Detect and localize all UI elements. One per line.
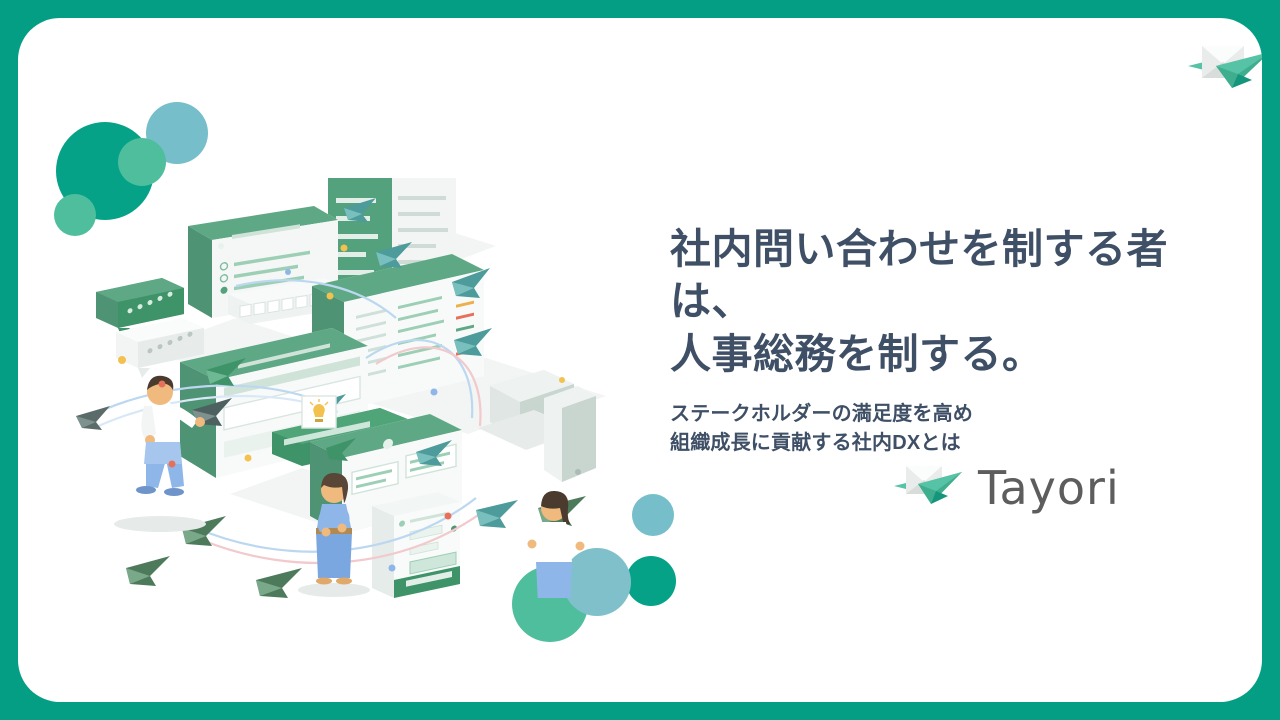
brand-name: Tayori bbox=[978, 465, 1120, 511]
page-subtitle: ステークホルダーの満足度を高め 組織成長に貢献する社内DXとは bbox=[670, 400, 1250, 457]
page-title: 社内問い合わせを制する者は、 人事総務を制する。 bbox=[670, 223, 1250, 380]
hero-illustration bbox=[76, 168, 676, 598]
brand-lockup: Tayori bbox=[894, 460, 1120, 516]
presentation-slide: 社内問い合わせを制する者は、 人事総務を制する。 ステークホルダーの満足度を高め… bbox=[0, 0, 1280, 720]
text-block: 社内問い合わせを制する者は、 人事総務を制する。 ステークホルダーの満足度を高め… bbox=[670, 223, 1250, 457]
envelope-paper-plane-icon bbox=[1186, 36, 1262, 100]
slide-card: 社内問い合わせを制する者は、 人事総務を制する。 ステークホルダーの満足度を高め… bbox=[18, 18, 1262, 702]
envelope-paper-plane-icon bbox=[894, 460, 964, 516]
